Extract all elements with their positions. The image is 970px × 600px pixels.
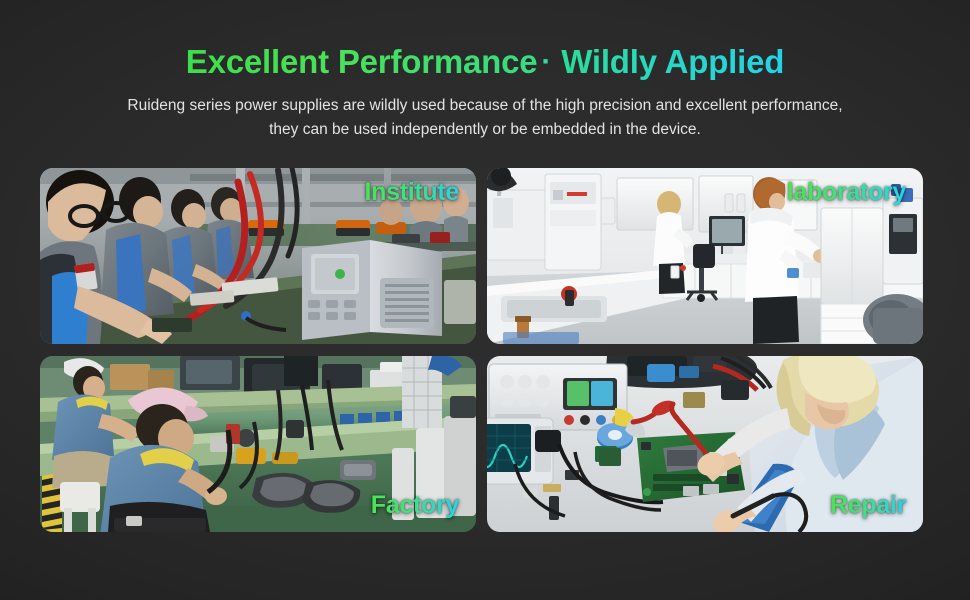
gallery-card-institute[interactable]: Institute (40, 168, 476, 344)
title-segment-cyan: Wildly Applied (561, 43, 784, 80)
gallery-card-repair[interactable]: Repair (487, 356, 923, 532)
page-title: Excellent Performance·Wildly Applied (0, 44, 970, 80)
subtitle-line-1: Ruideng series power supplies are wildly… (127, 97, 842, 114)
banner-page: Excellent Performance·Wildly Applied Rui… (0, 0, 970, 600)
application-gallery: Institute (40, 168, 923, 535)
gallery-card-laboratory[interactable]: laboratory (487, 168, 923, 344)
title-segment-green: Excellent Performance (186, 43, 538, 80)
subtitle: Ruideng series power supplies are wildly… (0, 94, 970, 142)
title-separator-dot: · (537, 45, 553, 78)
subtitle-line-2: they can be used independently or be emb… (0, 118, 970, 142)
header: Excellent Performance·Wildly Applied Rui… (0, 0, 970, 142)
gallery-card-label-repair: Repair (830, 493, 906, 518)
gallery-card-label-laboratory: laboratory (787, 180, 906, 205)
gallery-card-label-institute: Institute (364, 180, 459, 205)
gallery-card-label-factory: Factory (371, 493, 459, 518)
gallery-card-factory[interactable]: Factory (40, 356, 476, 532)
